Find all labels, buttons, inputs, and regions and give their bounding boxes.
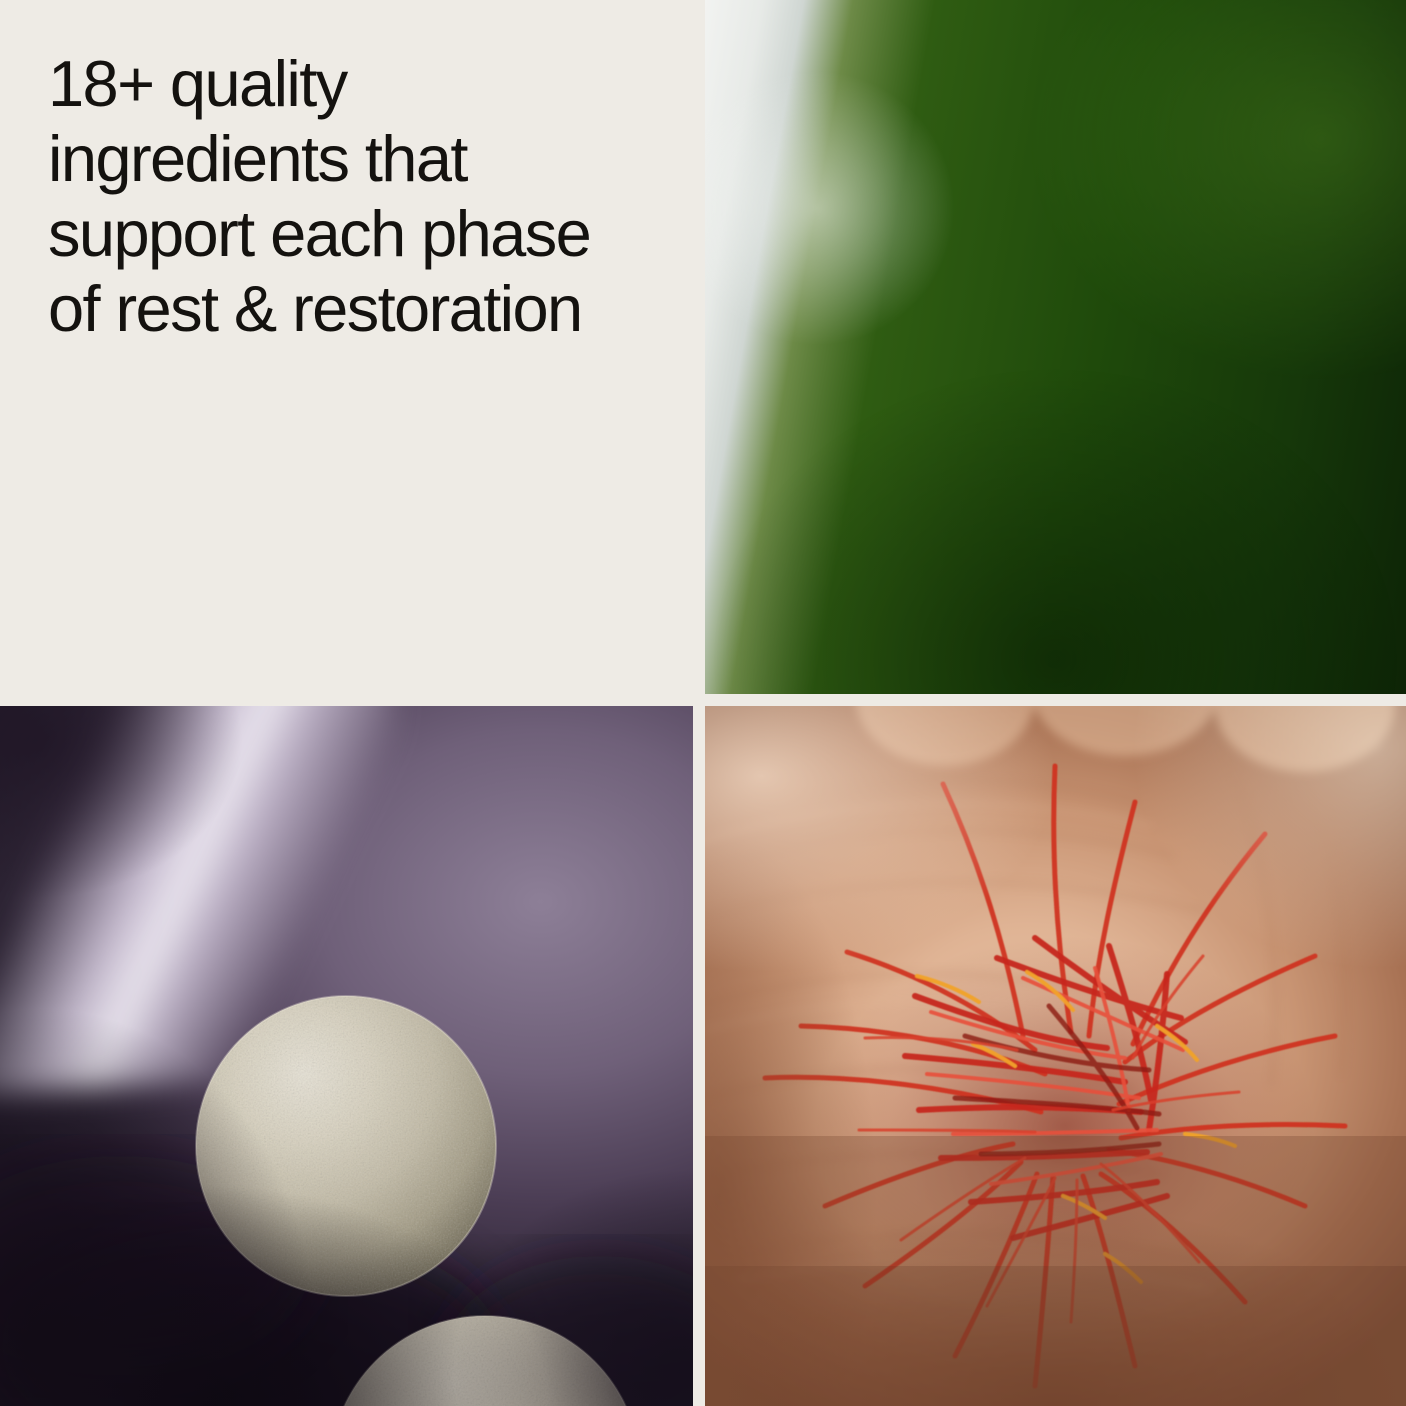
saffron-threads-photo — [705, 706, 1406, 1406]
magnesium-tablets-photo — [0, 706, 693, 1406]
ingredients-grid: 18+ quality ingredients that support eac… — [0, 0, 1406, 1406]
headline-panel: 18+ quality ingredients that support eac… — [0, 0, 693, 694]
page-title: 18+ quality ingredients that support eac… — [48, 46, 648, 346]
ingredient-card-magnesium[interactable]: MAGTEIN® MAGNESIUM L-THREONATE Sleep — [0, 706, 693, 1406]
ashwagandha-leaf-photo — [705, 0, 1406, 694]
ingredient-card-saffron[interactable]: SAFFRON Morning — [705, 706, 1406, 1406]
ingredient-card-ashwagandha[interactable]: ASHWAGANDHA Evening / Pre- Sleep — [705, 0, 1406, 694]
